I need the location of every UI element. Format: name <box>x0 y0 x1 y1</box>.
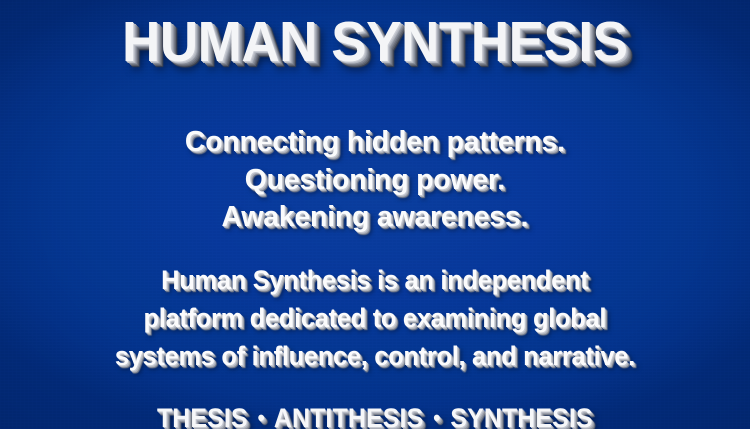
human-synthesis-banner: HUMAN SYNTHESIS Connecting hidden patter… <box>0 0 750 429</box>
bullet-separator-icon: • <box>431 407 444 429</box>
motto-block: THESIS • ANTITHESIS • SYNTHESIS <box>157 405 593 429</box>
description-block: Human Synthesis is an independent platfo… <box>115 262 635 375</box>
tagline-block: Connecting hidden patterns. Questioning … <box>185 124 565 236</box>
description-line-1: Human Synthesis is an independent <box>115 262 635 300</box>
motto-word-synthesis: SYNTHESIS <box>450 403 592 429</box>
page-title: HUMAN SYNTHESIS <box>122 14 627 71</box>
tagline-line-2: Questioning power. <box>185 162 565 199</box>
bullet-separator-icon: • <box>255 407 268 429</box>
description-line-3: systems of influence, control, and narra… <box>115 338 635 376</box>
tagline-line-1: Connecting hidden patterns. <box>185 124 565 161</box>
motto-word-thesis: THESIS <box>157 403 248 429</box>
motto-word-antithesis: ANTITHESIS <box>274 403 424 429</box>
banner-content: HUMAN SYNTHESIS Connecting hidden patter… <box>0 0 750 429</box>
description-line-2: platform dedicated to examining global <box>115 300 635 338</box>
tagline-line-3: Awakening awareness. <box>185 199 565 236</box>
